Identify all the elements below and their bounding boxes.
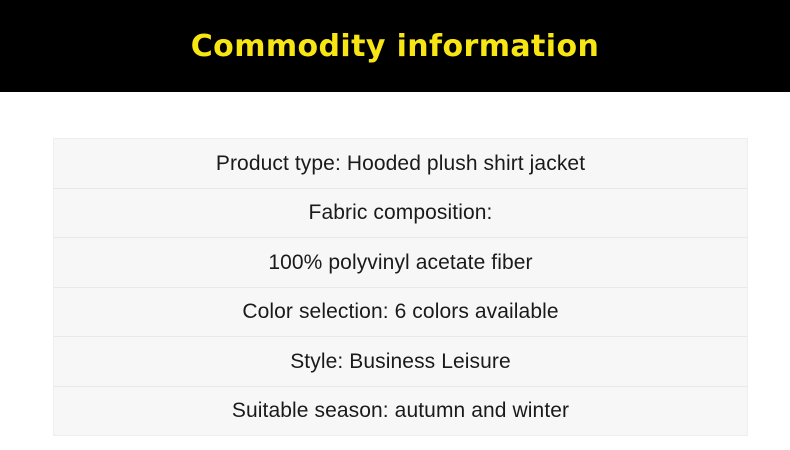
table-row: Fabric composition: xyxy=(54,189,747,239)
table-row-text: 100% polyvinyl acetate fiber xyxy=(268,251,532,274)
table-row-text: Suitable season: autumn and winter xyxy=(232,399,569,422)
table-row: 100% polyvinyl acetate fiber xyxy=(54,238,747,288)
table-row: Style: Business Leisure xyxy=(54,337,747,387)
commodity-information-table: Product type: Hooded plush shirt jacket … xyxy=(53,138,748,436)
title-banner: Commodity information xyxy=(0,0,790,92)
table-row-text: Color selection: 6 colors available xyxy=(242,300,558,323)
table-row: Product type: Hooded plush shirt jacket xyxy=(54,139,747,189)
product-info-page: Commodity information Product type: Hood… xyxy=(0,0,790,450)
table-row: Suitable season: autumn and winter xyxy=(54,387,747,436)
table-row-text: Product type: Hooded plush shirt jacket xyxy=(216,152,585,175)
table-row: Color selection: 6 colors available xyxy=(54,288,747,338)
table-row-text: Style: Business Leisure xyxy=(290,350,511,373)
table-row-text: Fabric composition: xyxy=(309,201,493,224)
page-title: Commodity information xyxy=(191,32,599,62)
